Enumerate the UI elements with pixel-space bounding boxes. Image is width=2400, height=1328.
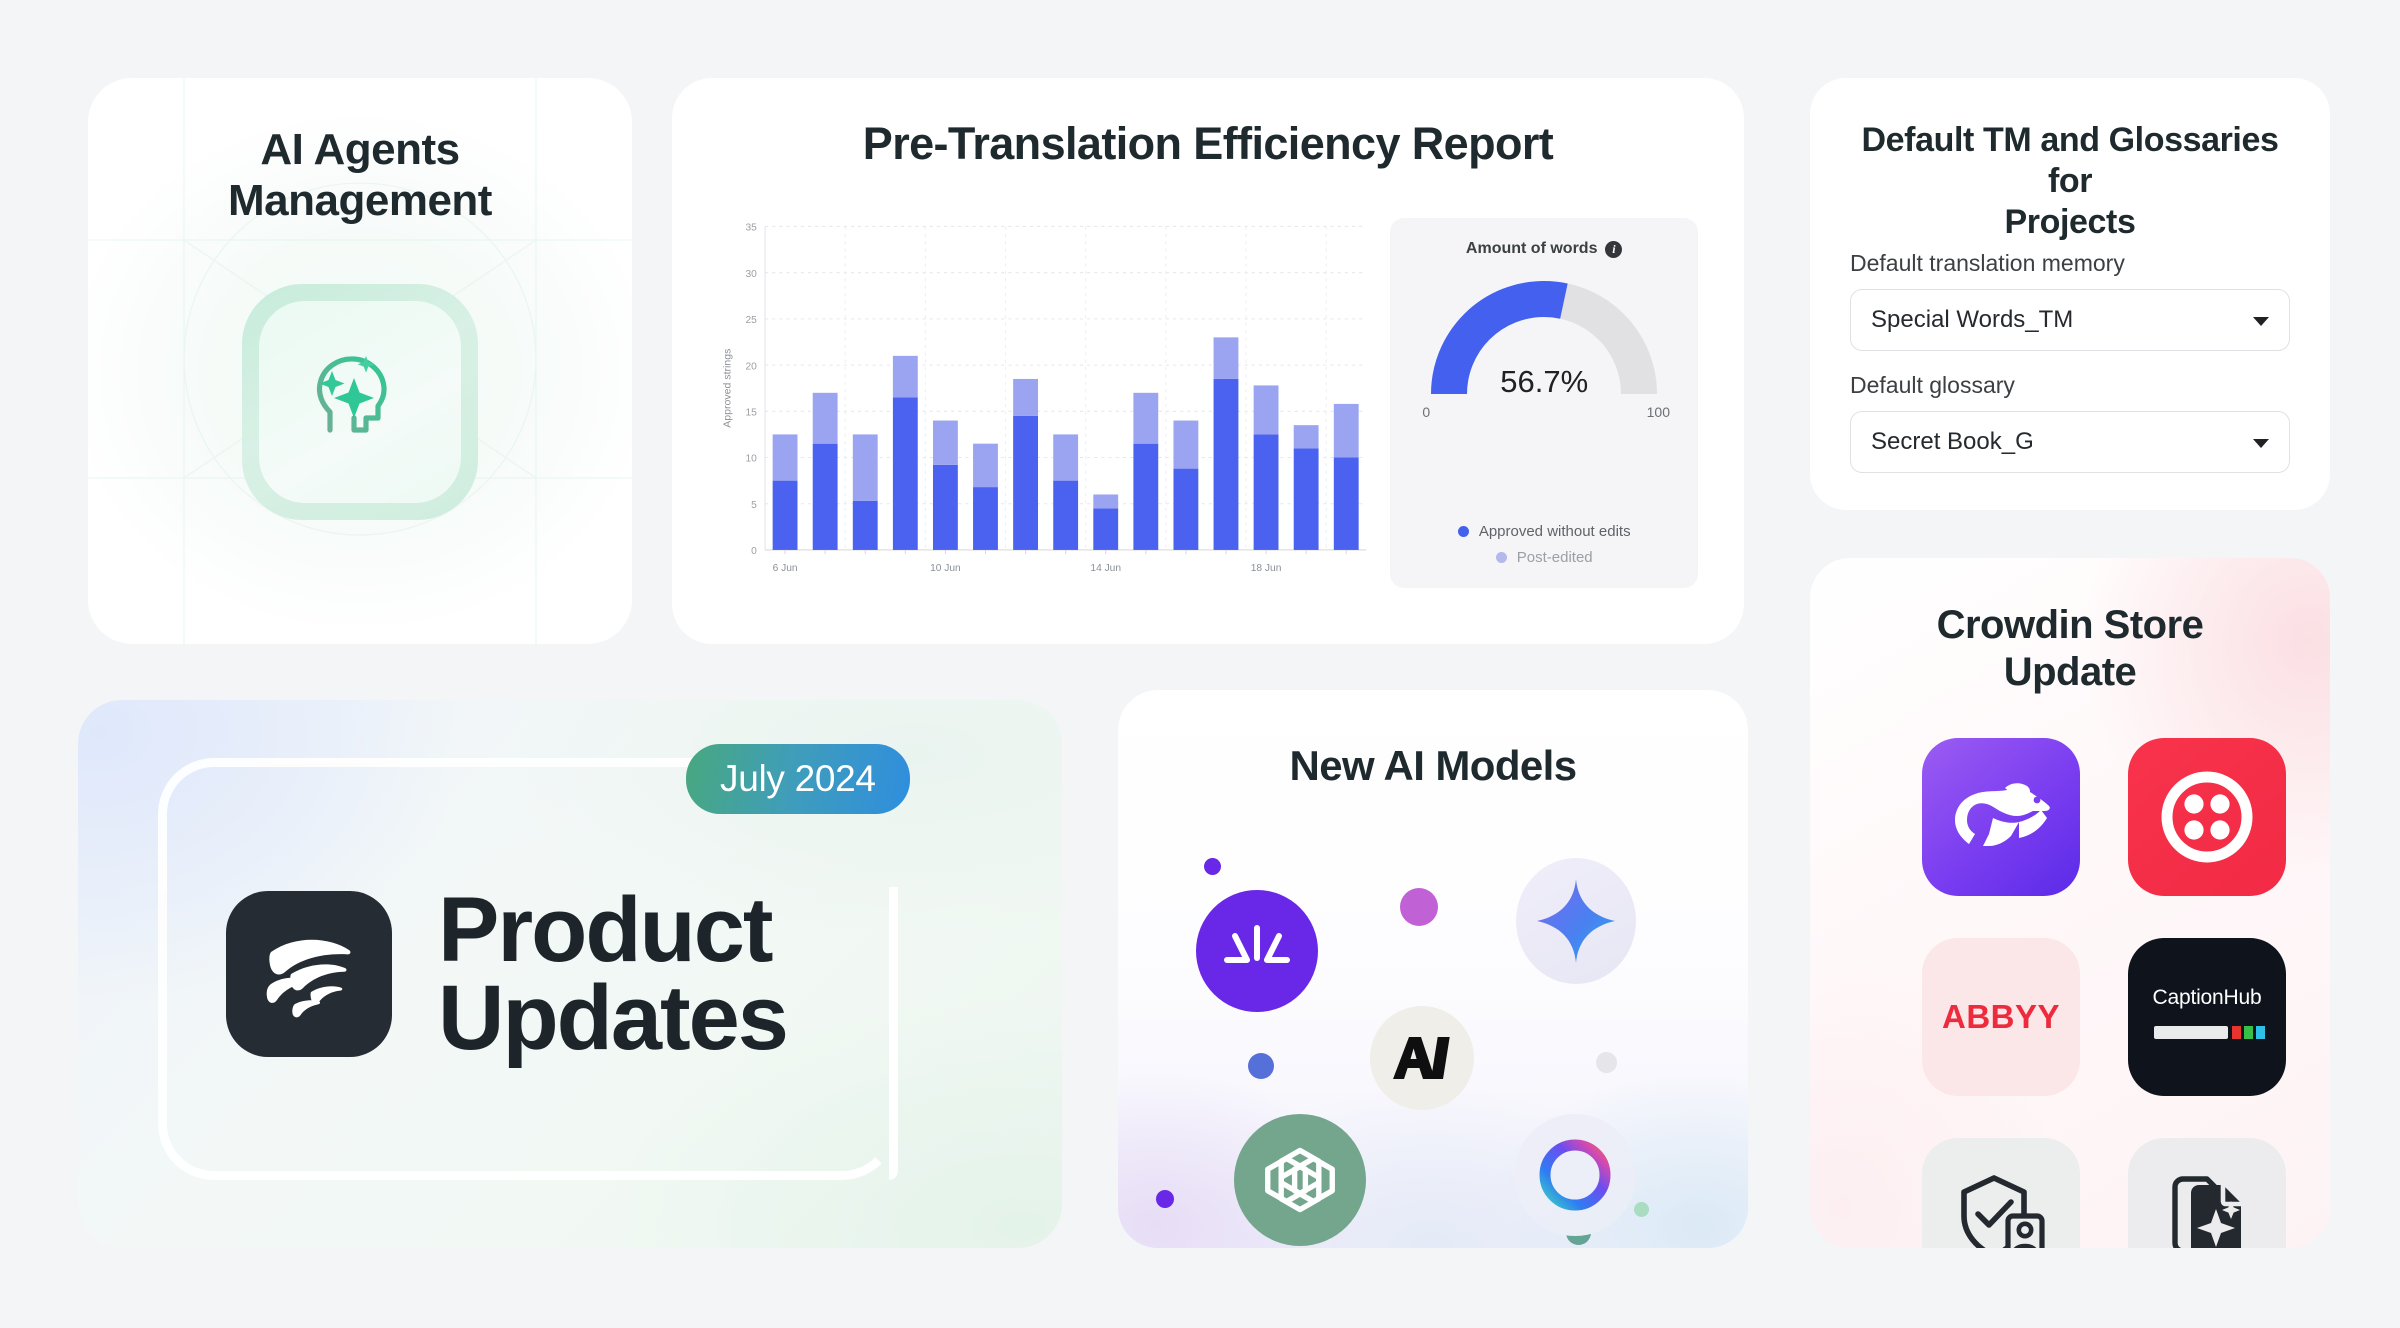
rabbit-glyph xyxy=(1949,780,2053,854)
openai-glyph xyxy=(1257,1137,1343,1223)
approved-strings-bar-chart[interactable]: 051015202530356 Jun10 Jun14 Jun18 JunApp… xyxy=(718,218,1372,588)
captionhub-icon[interactable]: CaptionHub xyxy=(2128,938,2286,1096)
svg-text:15: 15 xyxy=(746,407,758,418)
product-word-line1: Product xyxy=(438,886,787,974)
mailerlite-rabbit-icon[interactable] xyxy=(1922,738,2080,896)
crowdin-logo-glyph xyxy=(253,918,365,1030)
mistral-ai-logo-icon[interactable] xyxy=(1196,890,1318,1012)
default-translation-memory-value: Special Words_TM xyxy=(1871,306,2073,334)
legend-item-approved[interactable]: Approved without edits xyxy=(1458,523,1631,540)
default-glossary-select[interactable]: Secret Book_G xyxy=(1850,411,2290,473)
store-card-title: Crowdin Store Update xyxy=(1850,602,2290,696)
google-gemini-logo-icon[interactable] xyxy=(1516,858,1636,984)
new-ai-models-card[interactable]: New AI Models xyxy=(1118,690,1748,1248)
shield-id-badge-icon[interactable] xyxy=(1922,1138,2080,1248)
pre-translation-efficiency-report-card[interactable]: Pre-Translation Efficiency Report 051015… xyxy=(672,78,1744,644)
tm-title-line1: Default TM and Glossaries for xyxy=(1850,120,2290,202)
default-translation-memory-select[interactable]: Special Words_TM xyxy=(1850,289,2290,351)
gemini-glyph xyxy=(1537,879,1615,963)
product-updates-card[interactable]: July 2024 Product Updates xyxy=(78,700,1062,1248)
gauge-header: Amount of words i xyxy=(1390,240,1698,258)
svg-text:0: 0 xyxy=(751,546,757,557)
month-badge: July 2024 xyxy=(686,744,910,814)
chevron-down-icon xyxy=(2253,317,2269,326)
svg-text:10: 10 xyxy=(746,454,758,465)
gauge-min-label: 0 xyxy=(1422,404,1430,420)
decor-dot-magenta xyxy=(1400,888,1438,926)
tm-card-title: Default TM and Glossaries for Projects xyxy=(1850,120,2290,242)
gauge-max-label: 100 xyxy=(1647,404,1670,420)
legend-dot-approved xyxy=(1458,526,1469,537)
agents-card-title: AI Agents Management xyxy=(88,124,632,226)
gauge-value: 56.7% xyxy=(1390,364,1698,400)
abbyy-icon[interactable]: ABBYY xyxy=(1922,938,2080,1096)
svg-text:14 Jun: 14 Jun xyxy=(1090,563,1121,574)
agents-title-line2: Management xyxy=(88,175,632,226)
svg-text:25: 25 xyxy=(746,315,758,326)
ai-head-sparkle-icon xyxy=(296,338,424,466)
svg-text:6 Jun: 6 Jun xyxy=(773,563,798,574)
ai-agents-management-card[interactable]: AI Agents Management xyxy=(88,78,632,644)
svg-text:18 Jun: 18 Jun xyxy=(1251,563,1282,574)
svg-text:30: 30 xyxy=(746,269,758,280)
default-glossary-label: Default glossary xyxy=(1850,372,2290,399)
store-title-line2: Update xyxy=(1850,649,2290,696)
shield-badge-glyph xyxy=(1954,1170,2048,1248)
document-sparkle-icon[interactable] xyxy=(2128,1138,2286,1248)
decor-dot-grey xyxy=(1596,1052,1617,1073)
store-title-line1: Crowdin Store xyxy=(1850,602,2290,649)
default-translation-memory-field: Default translation memory Special Words… xyxy=(1850,250,2290,351)
svg-text:5: 5 xyxy=(751,500,757,511)
svg-text:10 Jun: 10 Jun xyxy=(930,563,961,574)
info-icon[interactable]: i xyxy=(1605,241,1622,258)
svg-text:35: 35 xyxy=(746,223,758,234)
decor-dot-violet xyxy=(1156,1190,1174,1208)
openai-logo-icon[interactable] xyxy=(1234,1114,1366,1246)
crowdin-logo-icon xyxy=(226,891,392,1057)
default-glossary-value: Secret Book_G xyxy=(1871,428,2034,456)
legend-label-postedited: Post-edited xyxy=(1517,549,1593,566)
chevron-down-icon xyxy=(2253,439,2269,448)
dashboard-collage: AI Agents Management Pre-T xyxy=(0,0,2400,1328)
store-app-grid: ABBYY CaptionHub xyxy=(1922,738,2286,1248)
captionhub-caption-bar xyxy=(2154,1026,2228,1039)
models-card-title: New AI Models xyxy=(1118,742,1748,790)
report-body: 051015202530356 Jun10 Jun14 Jun18 JunApp… xyxy=(718,218,1698,588)
report-card-title: Pre-Translation Efficiency Report xyxy=(672,118,1744,170)
captionhub-wordmark: CaptionHub xyxy=(2128,986,2286,1010)
mistral-glyph xyxy=(1221,922,1293,980)
captionhub-color-chips xyxy=(2232,1026,2265,1039)
azure-openai-ring-logo-icon[interactable] xyxy=(1514,1114,1636,1236)
legend-item-postedited[interactable]: Post-edited xyxy=(1496,549,1593,566)
document-sparkle-glyph xyxy=(2161,1171,2253,1248)
crowdin-store-update-card[interactable]: Crowdin Store Update xyxy=(1810,558,2330,1248)
gauge-title: Amount of words xyxy=(1466,240,1598,258)
default-tm-glossaries-card[interactable]: Default TM and Glossaries for Projects D… xyxy=(1810,78,2330,510)
product-word-line2: Updates xyxy=(438,974,787,1062)
tm-title-line2: Projects xyxy=(1850,202,2290,243)
decor-dot-violet-small xyxy=(1204,858,1221,875)
amount-of-words-gauge-panel[interactable]: Amount of words i 56.7% 0 100 Approved w… xyxy=(1390,218,1698,588)
svg-text:20: 20 xyxy=(746,361,758,372)
agents-title-line1: AI Agents xyxy=(88,124,632,175)
gauge-legend: Approved without edits Post-edited xyxy=(1390,523,1698,566)
legend-dot-postedited xyxy=(1496,552,1507,563)
decor-dot-blue xyxy=(1248,1053,1274,1079)
abbyy-wordmark: ABBYY xyxy=(1942,998,2060,1036)
product-updates-wordmark: Product Updates xyxy=(438,886,787,1063)
anthropic-glyph xyxy=(1393,1035,1451,1081)
decor-dot-green-soft xyxy=(1634,1202,1649,1217)
ring-glyph xyxy=(1533,1133,1617,1217)
agents-icon-plate xyxy=(242,284,478,520)
bar-chart-svg: 051015202530356 Jun10 Jun14 Jun18 JunApp… xyxy=(718,218,1372,588)
agents-icon-plate-inner xyxy=(259,301,461,503)
legend-label-approved: Approved without edits xyxy=(1479,523,1631,540)
anthropic-claude-logo-icon[interactable] xyxy=(1370,1006,1474,1110)
twilio-icon[interactable] xyxy=(2128,738,2286,896)
svg-text:Approved strings: Approved strings xyxy=(722,349,733,428)
product-updates-row: Product Updates xyxy=(226,886,787,1063)
default-translation-memory-label: Default translation memory xyxy=(1850,250,2290,277)
default-glossary-field: Default glossary Secret Book_G xyxy=(1850,372,2290,473)
twilio-glyph xyxy=(2155,765,2259,869)
